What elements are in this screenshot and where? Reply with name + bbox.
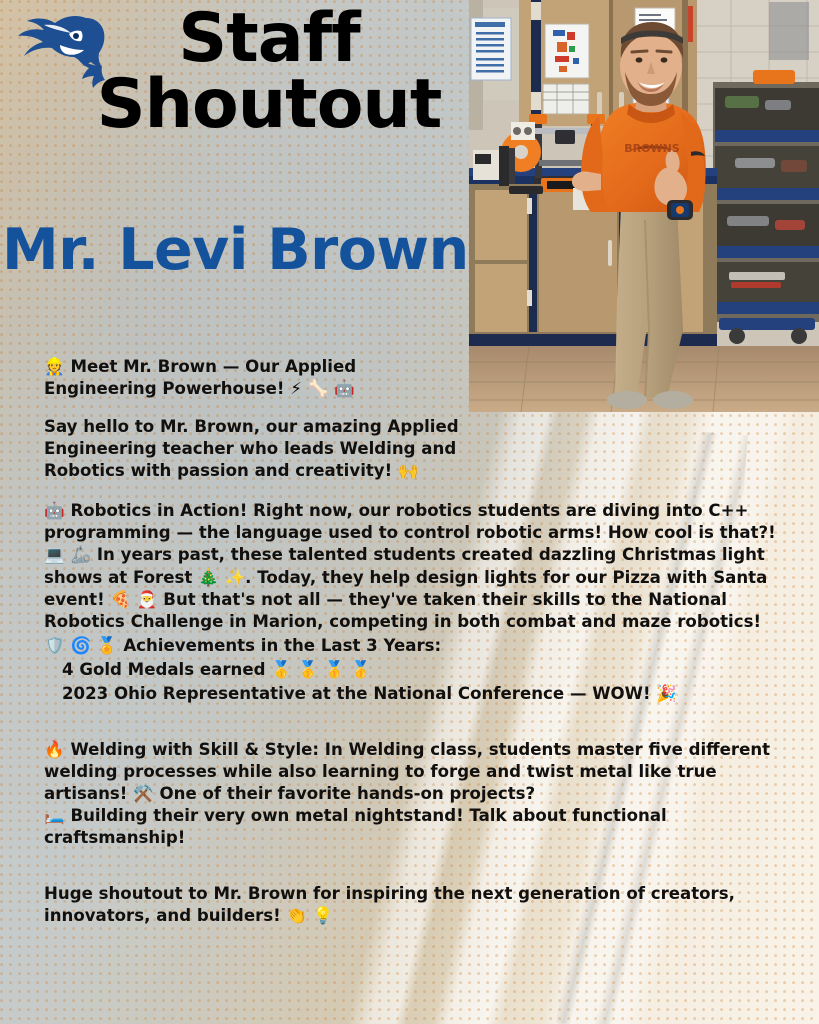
line: 🤖 Robotics in Action! Right now, our rob…: [44, 501, 748, 520]
honoree-name: Mr. Levi Brown: [2, 222, 482, 279]
paragraph-achievements-heading: 🛡️ 🌀 🏅 Achievements in the Last 3 Years:: [44, 635, 784, 657]
line: welding processes while also learning to…: [44, 762, 717, 781]
line: 🛏️ Building their very own metal nightst…: [44, 806, 667, 825]
body-copy: 👷 Meet Mr. Brown — Our Applied Engineeri…: [44, 356, 784, 945]
line: Say hello to Mr. Brown, our amazing Appl…: [44, 417, 459, 436]
line: craftsmanship!: [44, 828, 185, 847]
line: shows at Forest 🎄 ✨. Today, they help de…: [44, 568, 767, 587]
paragraph-achievement-ohio: 2023 Ohio Representative at the National…: [44, 683, 784, 705]
paragraph-welding: 🔥 Welding with Skill & Style: In Welding…: [44, 739, 784, 849]
headline-line-2: Shoutout: [76, 72, 462, 138]
staff-photo: BROWNS: [469, 0, 819, 412]
line: Huge shoutout to Mr. Brown for inspiring…: [44, 884, 735, 903]
staff-photo-illustration: BROWNS: [469, 0, 819, 412]
line: 💻 🦾 In years past, these talented studen…: [44, 545, 765, 564]
line: artisans! ⚒️ One of their favorite hands…: [44, 784, 535, 803]
paragraph-closing: Huge shoutout to Mr. Brown for inspiring…: [44, 883, 784, 927]
paragraph-achievement-medals: 4 Gold Medals earned 🥇 🥇 🥇 🥇: [44, 659, 784, 681]
line: 🛡️ 🌀 🏅 Achievements in the Last 3 Years:: [44, 636, 441, 655]
line: Robotics Challenge in Marion, competing …: [44, 612, 761, 631]
paragraph-robotics: 🤖 Robotics in Action! Right now, our rob…: [44, 500, 784, 632]
line: 👷 Meet Mr. Brown — Our Applied: [44, 357, 356, 376]
staff-shoutout-poster: Staff Shoutout Mr. Levi Brown: [0, 0, 819, 1024]
line: Robotics with passion and creativity! 🙌: [44, 461, 419, 480]
paragraph-intro-body: Say hello to Mr. Brown, our amazing Appl…: [44, 416, 784, 482]
page-title: Staff Shoutout: [76, 6, 462, 138]
line: 🔥 Welding with Skill & Style: In Welding…: [44, 740, 770, 759]
line: innovators, and builders! 👏 💡: [44, 906, 334, 925]
line: 4 Gold Medals earned 🥇 🥇 🥇 🥇: [44, 659, 784, 681]
line: event! 🍕 🎅 But that's not all — they've …: [44, 590, 727, 609]
line: programming — the language used to contr…: [44, 523, 776, 542]
line: Engineering teacher who leads Welding an…: [44, 439, 456, 458]
line: Engineering Powerhouse! ⚡ 🦴 🤖: [44, 379, 355, 398]
line: 2023 Ohio Representative at the National…: [44, 683, 784, 705]
svg-text:BROWNS: BROWNS: [624, 142, 680, 155]
paragraph-intro-heading: 👷 Meet Mr. Brown — Our Applied Engineeri…: [44, 356, 784, 400]
